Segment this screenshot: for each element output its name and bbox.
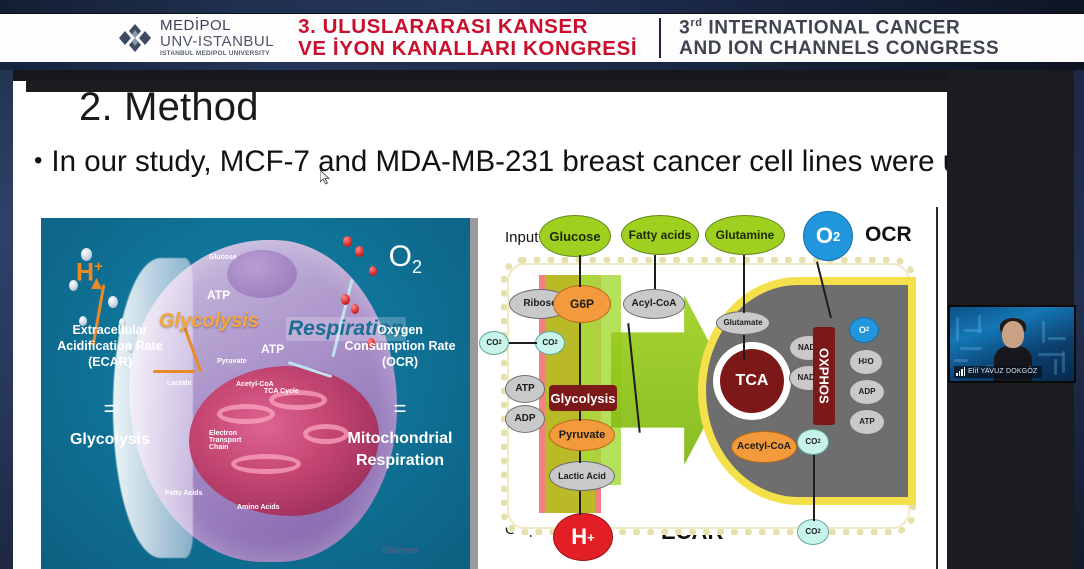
cristae-icon (231, 454, 301, 474)
label-tca-inner: TCA Cycle (264, 388, 299, 395)
node-lactic-acid[interactable]: Lactic Acid (549, 461, 615, 491)
connector-glucose-g6p (579, 255, 581, 287)
congress-banner: MEDİPOL UNV-ISTANBUL ISTANBUL MEDIPOL UN… (0, 14, 1084, 62)
label-glycolysis: Glycolysis (549, 385, 617, 411)
label-etc-inner: Electron Transport Chain (209, 430, 243, 451)
banner-divider (659, 18, 661, 58)
connector-co2-export (509, 342, 537, 344)
proton-particle (69, 280, 78, 291)
banner-under-strip (0, 62, 1084, 70)
input-node-fatty-acids[interactable]: Fatty acids (621, 215, 699, 255)
connector-glutamine-glutamate (743, 255, 745, 313)
node-acetyl-coa[interactable]: Acetyl-CoA (731, 431, 797, 463)
label-atp-top: ATP (207, 288, 230, 302)
connector-glycolysis-pyruvate (579, 411, 581, 421)
congress-title-en-line1: 3rd INTERNATIONAL CANCER (679, 17, 999, 39)
label-acetylcoa-inner: Acetyl-CoA (236, 381, 274, 388)
connector-pyruvate-lactic (579, 451, 581, 463)
connector-g6p-glycolysis (579, 323, 581, 385)
video-thumbnail-panel[interactable]: Elif YAVUZ DOKGÖZ (948, 305, 1076, 383)
node-tca-cycle[interactable]: TCA (720, 349, 784, 413)
ecar-label: Extracellular Acidification Rate (ECAR) (47, 322, 173, 370)
ocr-equals-sign: = (334, 396, 466, 422)
organelle-illustration (227, 250, 297, 298)
artist-signature: ©Salmon (381, 545, 418, 555)
ocr-title: OCR (865, 223, 912, 247)
logo-line-1: MEDİPOL (160, 18, 274, 33)
node-co2-cytosol[interactable]: CO2 (535, 331, 565, 355)
input-node-o2[interactable]: O2 (803, 211, 853, 261)
node-acyl-coa[interactable]: Acyl-CoA (623, 289, 685, 319)
label-pyruvate-inner: Pyruvate (217, 358, 247, 365)
label-o2: O2 (389, 240, 422, 278)
proton-particle (108, 296, 118, 308)
medipol-diamond-icon (118, 21, 152, 55)
node-h2o[interactable]: H2O (849, 349, 883, 375)
label-fatty-acids-inner: Fatty Acids (165, 490, 202, 497)
window-top-bar (0, 0, 1084, 13)
bullet-item: • In our study, MCF-7 and MDA-MB-231 bre… (34, 145, 924, 179)
label-lactate-inner: Lactate (167, 380, 192, 387)
congress-title-tr-line2: VE İYON KANALLARI KONGRESİ (298, 38, 637, 60)
oxygen-particle (355, 246, 364, 257)
label-glycolysis-inner: Glycolysis (159, 310, 259, 333)
input-node-glutamine[interactable]: Glutamine (705, 215, 785, 255)
node-co2-mito[interactable]: CO2 (797, 429, 829, 455)
left-rail (0, 70, 13, 569)
ecar-equals-sign: = (47, 396, 173, 422)
congress-title-turkish: 3. ULUSLARARASI KANSER VE İYON KANALLARI… (298, 16, 637, 60)
node-pyruvate[interactable]: Pyruvate (549, 419, 615, 451)
input-label: Input (505, 229, 538, 246)
node-o2-mitochondria[interactable]: O2 (849, 317, 879, 343)
ocr-label: Oxygen Consumption Rate (OCR) (334, 322, 466, 370)
congress-title-tr-line1: 3. ULUSLARARASI KANSER (298, 16, 637, 38)
node-g6p[interactable]: G6P (553, 285, 611, 323)
label-h-plus: H+ (76, 258, 103, 287)
mouse-cursor (320, 170, 330, 185)
label-amino-acids-inner: Amino Acids (237, 504, 280, 511)
label-oxphos: OXPHOS (813, 327, 835, 425)
medipol-wordmark: MEDİPOL UNV-ISTANBUL ISTANBUL MEDIPOL UN… (160, 18, 274, 58)
congress-title-english: 3rd INTERNATIONAL CANCER AND ION CHANNEL… (679, 17, 999, 60)
ordinal-rest: INTERNATIONAL CANCER (703, 17, 961, 38)
slide-right-edge (936, 207, 938, 569)
ordinal-suffix: rd (690, 17, 702, 29)
ecar-result-label: Glycolysis (47, 431, 173, 449)
proton-particle (81, 248, 92, 261)
connector-glutamate-tca (743, 335, 745, 361)
connector-co2-export-mito (813, 455, 815, 521)
oxygen-particle (369, 266, 377, 276)
participant-name-badge: Elif YAVUZ DOKGÖZ (954, 366, 1042, 378)
lactate-arrow (153, 370, 195, 373)
figure-metabolic-pathway: Input Output OCR ECAR Glucose Fatty acid… (483, 207, 933, 569)
logo-line-3: ISTANBUL MEDIPOL UNIVERSITY (160, 51, 274, 58)
node-adp-oxphos[interactable]: ADP (849, 379, 885, 405)
input-node-glucose[interactable]: Glucose (539, 215, 611, 257)
oxygen-particle (341, 294, 350, 305)
node-co2-extracellular[interactable]: CO2 (479, 331, 509, 355)
figure-ecar-ocr-cell: H+ O2 Glycolysis Respiration ATP ATP Glu… (41, 218, 478, 569)
node-atp-oxphos[interactable]: ATP (849, 409, 885, 435)
bullet-text: In our study, MCF-7 and MDA-MB-231 breas… (51, 145, 947, 179)
oxygen-particle (343, 236, 352, 247)
oxygen-particle (351, 304, 359, 314)
screen-root: MEDİPOL UNV-ISTANBUL ISTANBUL MEDIPOL UN… (0, 0, 1084, 569)
output-node-h-plus[interactable]: H+ (553, 513, 613, 561)
signal-bars-icon (956, 368, 965, 376)
node-glutamate[interactable]: Glutamate (716, 311, 770, 335)
bullet-marker: • (34, 145, 42, 177)
cristae-icon (217, 404, 275, 424)
ocr-result-label: Mitochondrial Respiration (334, 428, 466, 472)
logo-line-2: UNV-ISTANBUL (160, 34, 274, 49)
page-title: 2. Method (79, 85, 259, 130)
connector-fattyacid-acylcoa (654, 255, 656, 289)
label-glucose-inner: Glucose (209, 254, 237, 261)
video-feed[interactable]: Elif YAVUZ DOKGÖZ (950, 307, 1074, 381)
node-atp-glycolysis[interactable]: ATP (505, 375, 545, 403)
node-co2-output[interactable]: CO2 (797, 519, 829, 545)
ordinal-number: 3 (679, 17, 690, 38)
label-atp-mid: ATP (261, 342, 284, 356)
connector-lactic-hplus (579, 491, 581, 515)
congress-title-en-line2: AND ION CHANNELS CONGRESS (679, 38, 999, 59)
participant-name: Elif YAVUZ DOKGÖZ (968, 366, 1038, 378)
presentation-slide[interactable]: 2. Method • In our study, MCF-7 and MDA-… (13, 81, 947, 569)
node-adp-glycolysis[interactable]: ADP (505, 405, 545, 433)
